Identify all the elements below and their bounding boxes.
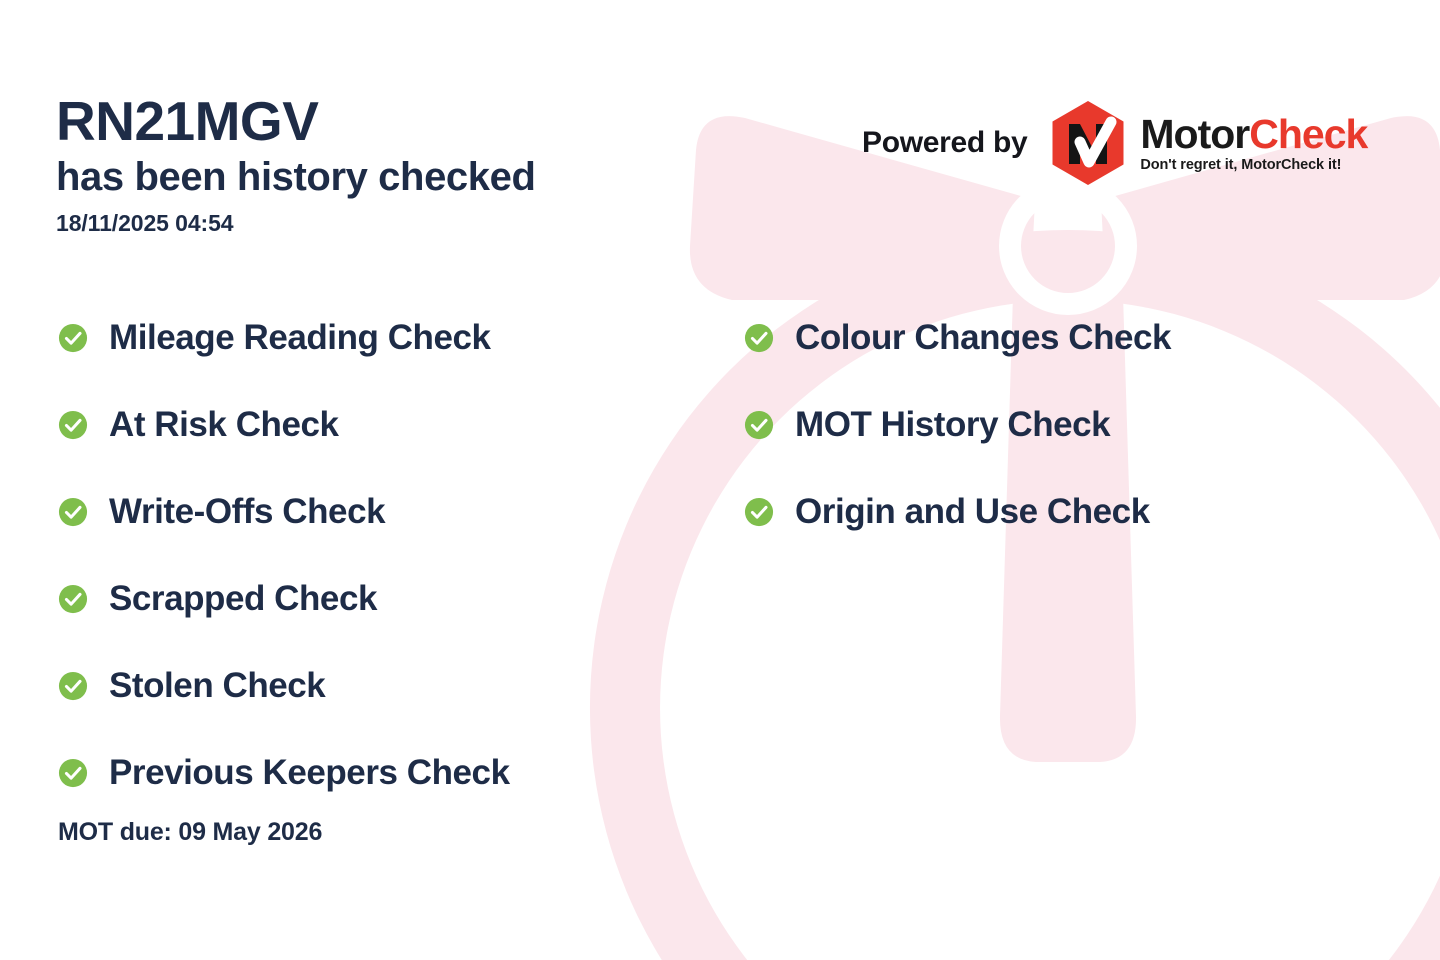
wordmark-motor: Motor [1140,111,1249,157]
green-check-circle-icon [58,323,88,353]
check-label: Colour Changes Check [795,318,1171,358]
check-label: Previous Keepers Check [109,753,510,793]
check-label: Mileage Reading Check [109,318,491,358]
check-label: Stolen Check [109,666,325,706]
report-header: RN21MGV has been history checked 18/11/2… [56,92,535,237]
motorcheck-wordmark: MotorCheck [1140,114,1367,155]
check-label: Write-Offs Check [109,492,385,532]
list-item: Previous Keepers Check [58,729,510,816]
green-check-circle-icon [58,410,88,440]
green-check-circle-icon [744,497,774,527]
list-item: Origin and Use Check [744,468,1171,555]
list-item: Mileage Reading Check [58,294,510,381]
motorcheck-hexagon-m-check-icon [1049,100,1127,186]
check-timestamp: 18/11/2025 04:54 [56,210,535,237]
check-list-left: Mileage Reading Check At Risk Check Writ… [58,294,510,816]
green-check-circle-icon [58,497,88,527]
page-title: has been history checked [56,154,535,200]
check-label: Origin and Use Check [795,492,1150,532]
check-label: At Risk Check [109,405,339,445]
green-check-circle-icon [58,758,88,788]
list-item: At Risk Check [58,381,510,468]
motorcheck-logo[interactable]: MotorCheck Don't regret it, MotorCheck i… [1049,100,1367,186]
report-card: RN21MGV has been history checked 18/11/2… [0,0,1440,960]
check-label: Scrapped Check [109,579,377,619]
list-item: Stolen Check [58,642,510,729]
green-check-circle-icon [58,584,88,614]
check-label: MOT History Check [795,405,1110,445]
brand-tagline: Don't regret it, MotorCheck it! [1140,158,1367,173]
list-item: Scrapped Check [58,555,510,642]
mot-due-note: MOT due: 09 May 2026 [58,818,322,847]
wordmark-check: Check [1249,111,1367,157]
green-check-circle-icon [744,410,774,440]
check-list-right: Colour Changes Check MOT History Check O… [744,294,1171,555]
powered-by-label: Powered by [862,126,1027,160]
vehicle-registration: RN21MGV [56,92,535,150]
green-check-circle-icon [58,671,88,701]
green-check-circle-icon [744,323,774,353]
motorcheck-wordmark-block: MotorCheck Don't regret it, MotorCheck i… [1140,114,1367,173]
list-item: Colour Changes Check [744,294,1171,381]
list-item: Write-Offs Check [58,468,510,555]
list-item: MOT History Check [744,381,1171,468]
powered-by-block: Powered by MotorCheck Don't regret it, M… [862,100,1367,186]
